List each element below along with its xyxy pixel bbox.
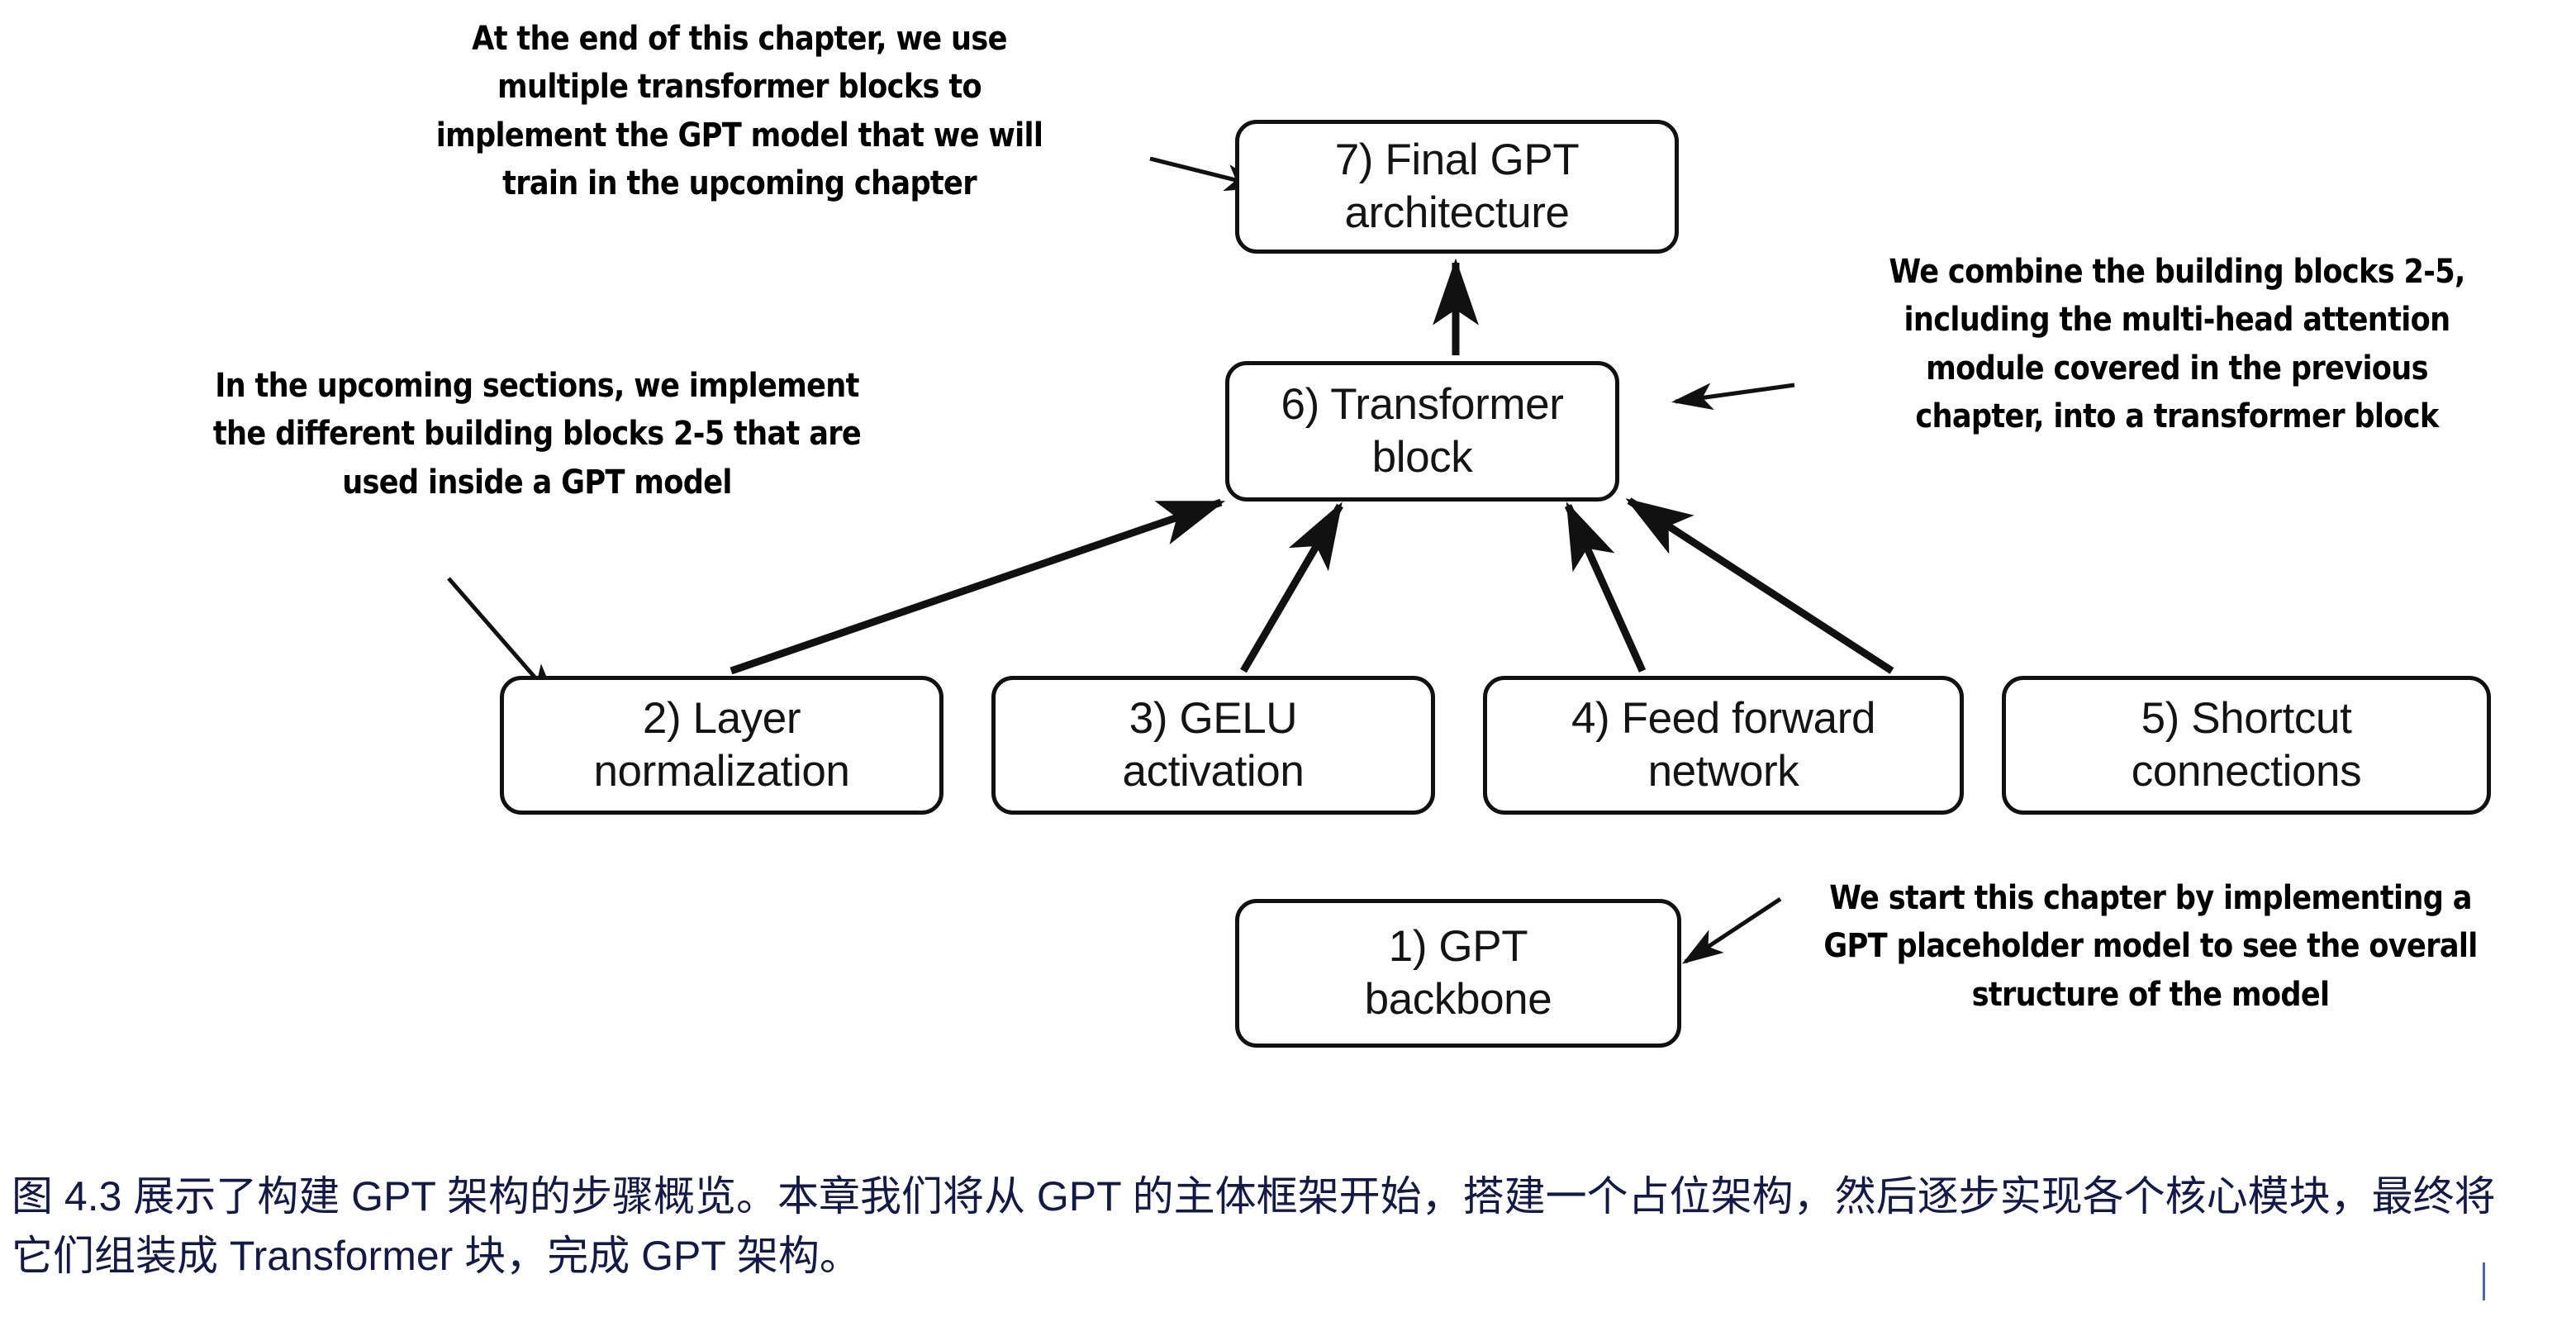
box-transformer-block-label: 6) Transformer block	[1275, 378, 1571, 483]
box-gpt-backbone[interactable]: 1) GPT backbone	[1235, 899, 1681, 1048]
box-final-gpt-architecture-label: 7) Final GPT architecture	[1328, 134, 1586, 239]
figure-caption: 图 4.3 展示了构建 GPT 架构的步骤概览。本章我们将从 GPT 的主体框架…	[12, 1167, 2523, 1286]
box-transformer-block[interactable]: 6) Transformer block	[1225, 361, 1619, 502]
annotation-building-blocks: In the upcoming sections, we implement t…	[188, 362, 886, 506]
annotation-final-gpt: At the end of this chapter, we use multi…	[420, 15, 1059, 208]
box-gpt-backbone-label: 1) GPT backbone	[1358, 920, 1559, 1025]
arrow-gelu-to-transformer	[1243, 506, 1340, 671]
box-shortcut-connections[interactable]: 5) Shortcut connections	[2002, 676, 2491, 815]
box-gelu-activation[interactable]: 3) GELU activation	[991, 676, 1435, 815]
leader-note-transformer-block	[1675, 385, 1794, 402]
arrow-feedforward-to-transformer	[1568, 506, 1642, 671]
text-cursor	[2483, 1262, 2485, 1300]
box-layer-normalization[interactable]: 2) Layer normalization	[500, 676, 943, 815]
figure-canvas: 7) Final GPT architecture 6) Transformer…	[0, 0, 2576, 1317]
box-gelu-activation-label: 3) GELU activation	[1116, 692, 1311, 797]
arrow-layernorm-to-transformer	[731, 502, 1221, 671]
annotation-gpt-backbone: We start this chapter by implementing a …	[1805, 874, 2496, 1019]
box-feed-forward-network-label: 4) Feed forward network	[1565, 692, 1882, 797]
box-layer-normalization-label: 2) Layer normalization	[587, 692, 856, 797]
annotation-transformer-block: We combine the building blocks 2-5, incl…	[1850, 248, 2504, 441]
arrow-shortcut-to-transformer	[1629, 501, 1892, 671]
box-feed-forward-network[interactable]: 4) Feed forward network	[1483, 676, 1964, 815]
box-shortcut-connections-label: 5) Shortcut connections	[2125, 692, 2368, 797]
box-final-gpt-architecture[interactable]: 7) Final GPT architecture	[1235, 120, 1679, 254]
leader-note-gpt-backbone	[1685, 899, 1780, 962]
